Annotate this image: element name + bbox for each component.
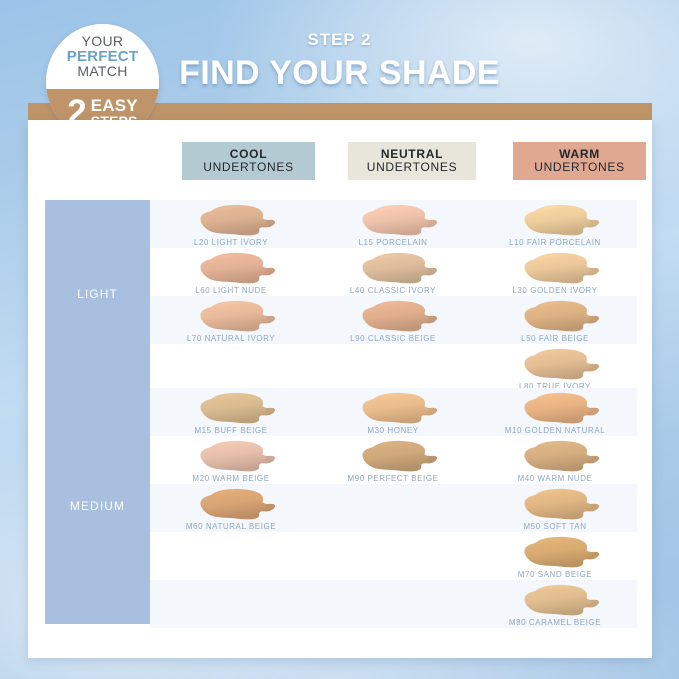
column-header-neutral: NEUTRALUNDERTONES bbox=[348, 142, 476, 180]
foundation-swatch-icon bbox=[522, 440, 606, 474]
shade-cell-m10[interactable]: M10 GOLDEN NATURAL bbox=[474, 388, 636, 436]
category-label: MEDIUM bbox=[70, 499, 125, 513]
shade-cell bbox=[312, 344, 474, 392]
shade-cell-m80[interactable]: M80 CARAMEL BEIGE bbox=[474, 580, 636, 628]
category-label: LIGHT bbox=[77, 287, 118, 301]
foundation-swatch-icon bbox=[198, 252, 282, 286]
badge-easy-text: EASY bbox=[91, 97, 138, 114]
column-header-subtitle: UNDERTONES bbox=[534, 161, 625, 174]
shade-cell-l60[interactable]: L60 LIGHT NUDE bbox=[150, 248, 312, 296]
shade-name-label: M15 BUFF BEIGE bbox=[150, 426, 312, 435]
shade-cell bbox=[312, 580, 474, 628]
shade-name-label: L20 LIGHT IVORY bbox=[150, 238, 312, 247]
foundation-swatch-icon bbox=[522, 204, 606, 238]
badge-top: YOUR PERFECT MATCH bbox=[46, 24, 159, 89]
foundation-swatch-icon bbox=[360, 252, 444, 286]
shade-cell bbox=[150, 580, 312, 628]
shade-cell bbox=[150, 532, 312, 580]
category-block-medium: MEDIUM bbox=[45, 388, 150, 624]
foundation-swatch-icon bbox=[522, 488, 606, 522]
shade-cell-m40[interactable]: M40 WARM NUDE bbox=[474, 436, 636, 484]
shade-name-label: M40 WARM NUDE bbox=[474, 474, 636, 483]
foundation-swatch-icon bbox=[522, 392, 606, 426]
shade-cell-l15[interactable]: L15 PORCELAIN bbox=[312, 200, 474, 248]
foundation-swatch-icon bbox=[522, 252, 606, 286]
foundation-swatch-icon bbox=[522, 300, 606, 334]
shade-cell bbox=[312, 532, 474, 580]
shade-name-label: M70 SAND BEIGE bbox=[474, 570, 636, 579]
shade-name-label: L60 LIGHT NUDE bbox=[150, 286, 312, 295]
shade-name-label: M60 NATURAL BEIGE bbox=[150, 522, 312, 531]
shade-name-label: M50 SOFT TAN bbox=[474, 522, 636, 531]
shade-cell-m50[interactable]: M50 SOFT TAN bbox=[474, 484, 636, 532]
shade-chart-card: COOLUNDERTONESNEUTRALUNDERTONESWARMUNDER… bbox=[28, 120, 652, 658]
badge-match-text: MATCH bbox=[77, 64, 127, 79]
foundation-swatch-icon bbox=[198, 204, 282, 238]
shade-row: L70 NATURAL IVORY L90 CLASSIC BEIGE L50 … bbox=[150, 296, 637, 344]
shade-row: M20 WARM BEIGE M90 PERFECT BEIGE M40 WAR… bbox=[150, 436, 637, 484]
shade-name-label: L15 PORCELAIN bbox=[312, 238, 474, 247]
foundation-swatch-icon bbox=[522, 536, 606, 570]
shade-cell-m90[interactable]: M90 PERFECT BEIGE bbox=[312, 436, 474, 484]
foundation-swatch-icon bbox=[522, 348, 606, 382]
foundation-swatch-icon bbox=[198, 488, 282, 522]
shade-cell-l80[interactable]: L80 TRUE IVORY bbox=[474, 344, 636, 392]
shade-cell-l30[interactable]: L30 GOLDEN IVORY bbox=[474, 248, 636, 296]
shade-row: M80 CARAMEL BEIGE bbox=[150, 580, 637, 628]
shade-cell-m60[interactable]: M60 NATURAL BEIGE bbox=[150, 484, 312, 532]
shade-name-label: M20 WARM BEIGE bbox=[150, 474, 312, 483]
shade-cell-m15[interactable]: M15 BUFF BEIGE bbox=[150, 388, 312, 436]
shade-name-label: M30 HONEY bbox=[312, 426, 474, 435]
shade-name-label: L30 GOLDEN IVORY bbox=[474, 286, 636, 295]
shade-row: M70 SAND BEIGE bbox=[150, 532, 637, 580]
shade-row: M60 NATURAL BEIGE M50 SOFT TAN bbox=[150, 484, 637, 532]
badge-your-text: YOUR bbox=[82, 34, 124, 49]
shade-name-label: M80 CARAMEL BEIGE bbox=[474, 618, 636, 627]
shade-row: L60 LIGHT NUDE L40 CLASSIC IVORY L30 GOL… bbox=[150, 248, 637, 296]
shade-row: L20 LIGHT IVORY L15 PORCELAIN L10 FAIR P… bbox=[150, 200, 637, 248]
shade-row: L80 TRUE IVORY bbox=[150, 344, 637, 392]
column-header-cool: COOLUNDERTONES bbox=[182, 142, 315, 180]
foundation-swatch-icon bbox=[360, 440, 444, 474]
foundation-swatch-icon bbox=[198, 300, 282, 334]
foundation-swatch-icon bbox=[360, 204, 444, 238]
foundation-swatch-icon bbox=[522, 584, 606, 618]
shade-cell-l40[interactable]: L40 CLASSIC IVORY bbox=[312, 248, 474, 296]
shade-cell-l20[interactable]: L20 LIGHT IVORY bbox=[150, 200, 312, 248]
shade-row: M15 BUFF BEIGE M30 HONEY M10 GOLDEN NATU… bbox=[150, 388, 637, 436]
shade-name-label: M90 PERFECT BEIGE bbox=[312, 474, 474, 483]
foundation-swatch-icon bbox=[198, 440, 282, 474]
shade-name-label: L90 CLASSIC BEIGE bbox=[312, 334, 474, 343]
foundation-swatch-icon bbox=[360, 392, 444, 426]
column-header-subtitle: UNDERTONES bbox=[367, 161, 458, 174]
shade-cell bbox=[150, 344, 312, 392]
shade-name-label: L10 FAIR PORCELAIN bbox=[474, 238, 636, 247]
shade-cell-l90[interactable]: L90 CLASSIC BEIGE bbox=[312, 296, 474, 344]
badge-perfect-text: PERFECT bbox=[67, 49, 138, 65]
shade-name-label: M10 GOLDEN NATURAL bbox=[474, 426, 636, 435]
shade-name-label: L70 NATURAL IVORY bbox=[150, 334, 312, 343]
column-header-subtitle: UNDERTONES bbox=[203, 161, 294, 174]
shade-cell-m30[interactable]: M30 HONEY bbox=[312, 388, 474, 436]
foundation-swatch-icon bbox=[360, 300, 444, 334]
foundation-swatch-icon bbox=[198, 392, 282, 426]
column-header-warm: WARMUNDERTONES bbox=[513, 142, 646, 180]
shade-name-label: L40 CLASSIC IVORY bbox=[312, 286, 474, 295]
shade-cell-l50[interactable]: L50 FAIR BEIGE bbox=[474, 296, 636, 344]
shade-cell-m20[interactable]: M20 WARM BEIGE bbox=[150, 436, 312, 484]
shade-cell-l70[interactable]: L70 NATURAL IVORY bbox=[150, 296, 312, 344]
shade-name-label: L50 FAIR BEIGE bbox=[474, 334, 636, 343]
shade-cell bbox=[312, 484, 474, 532]
category-block-light: LIGHT bbox=[45, 200, 150, 388]
shade-cell-l10[interactable]: L10 FAIR PORCELAIN bbox=[474, 200, 636, 248]
shade-cell-m70[interactable]: M70 SAND BEIGE bbox=[474, 532, 636, 580]
